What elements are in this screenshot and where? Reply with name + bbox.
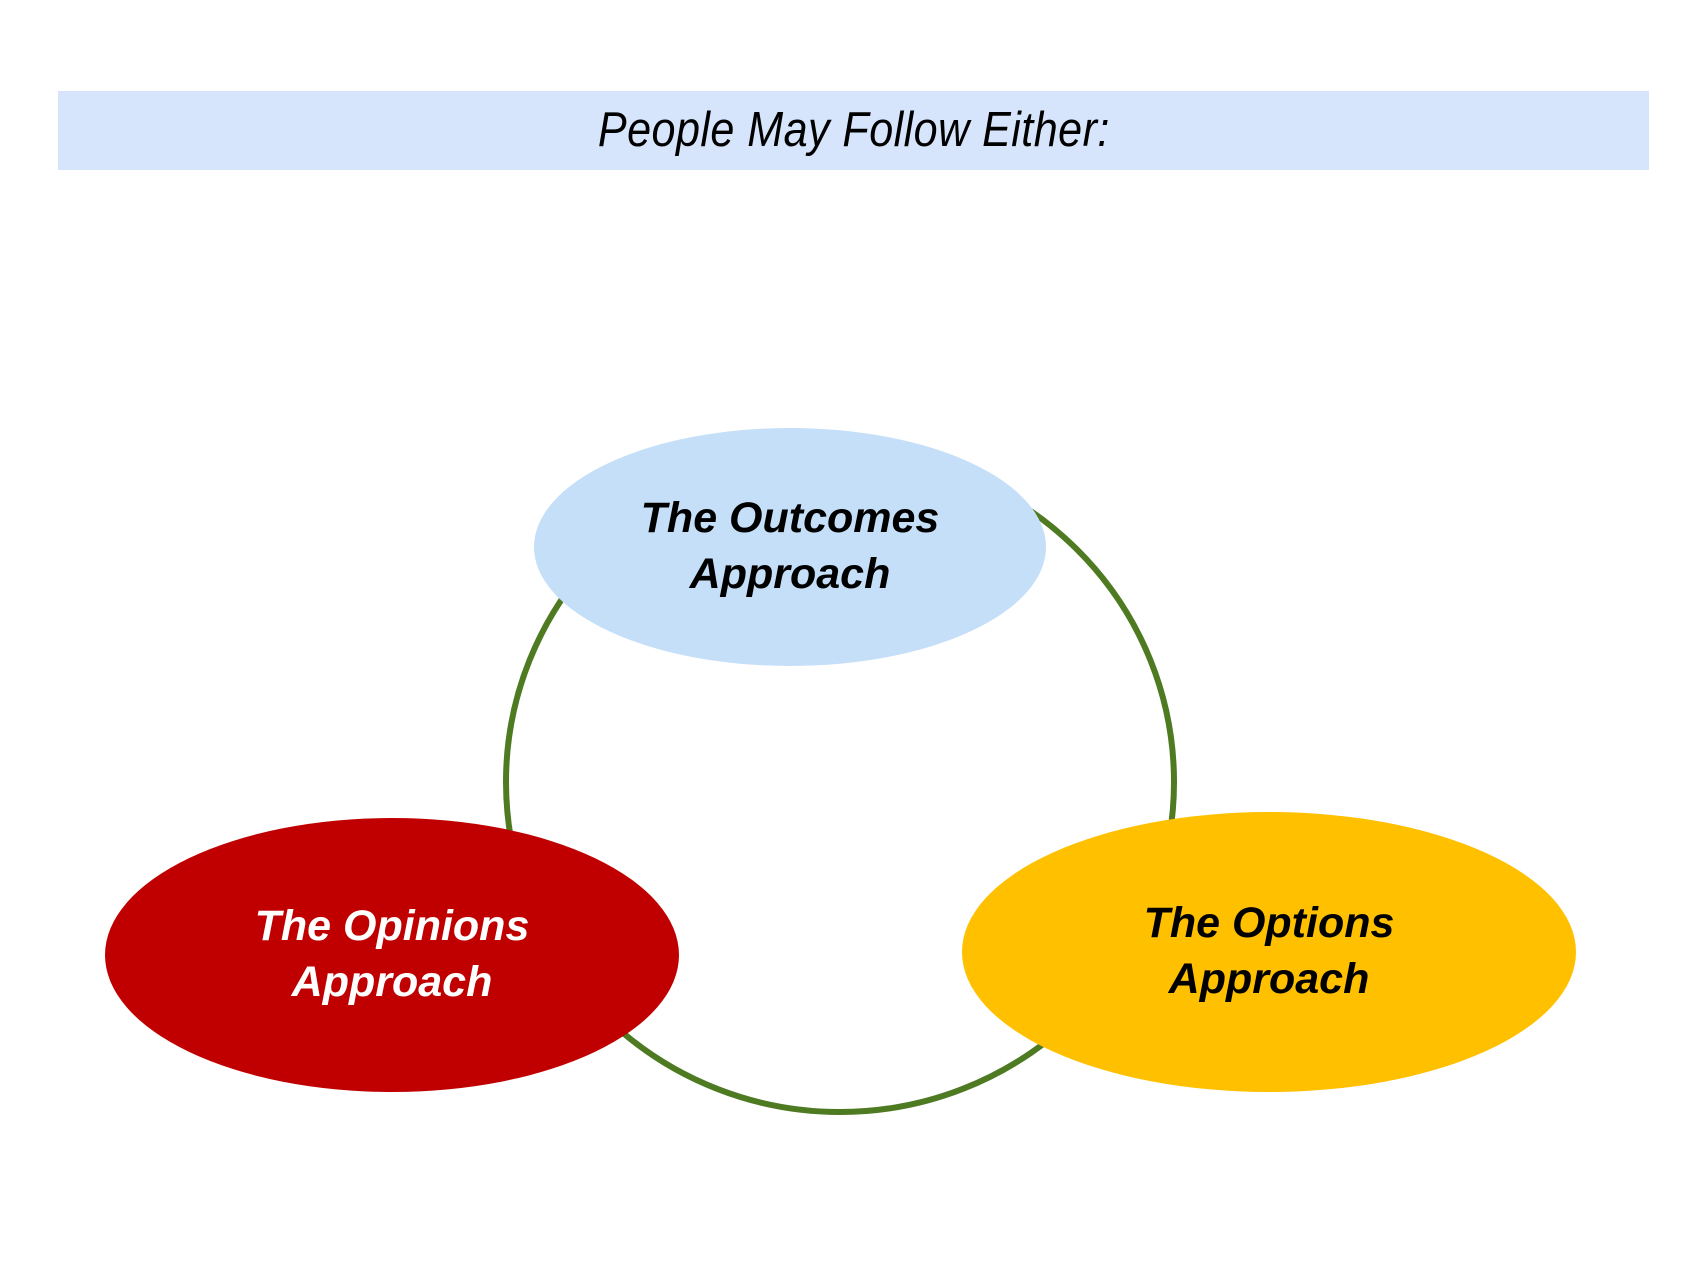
node-ellipse-outcomes[interactable] <box>534 428 1046 666</box>
cycle-diagram <box>0 0 1707 1280</box>
node-ellipse-options[interactable] <box>962 812 1576 1092</box>
slide-canvas: People May Follow Either: The Outcomes A… <box>0 0 1707 1280</box>
node-ellipse-opinions[interactable] <box>105 818 679 1092</box>
